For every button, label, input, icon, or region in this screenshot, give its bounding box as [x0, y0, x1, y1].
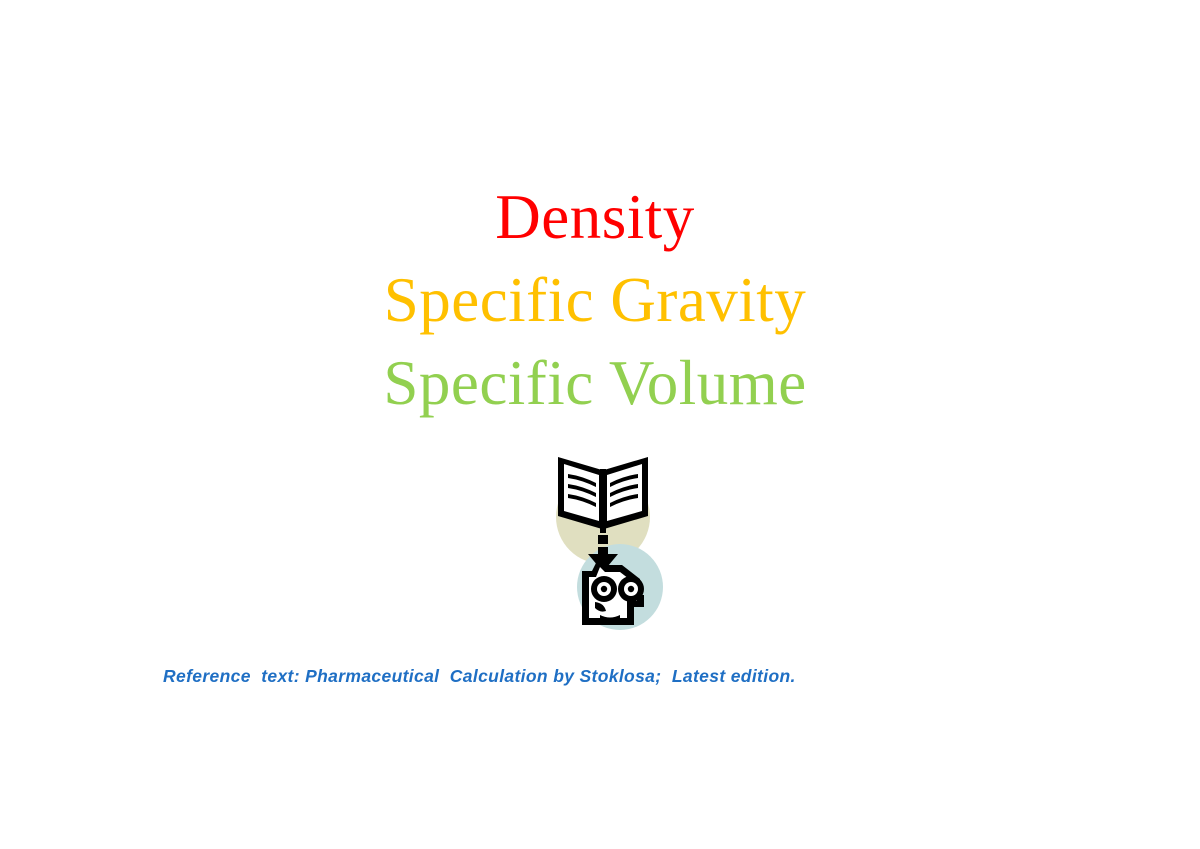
learning-clipart — [548, 443, 673, 633]
title-line-density: Density — [0, 186, 1190, 249]
title-line-specific-volume: Specific Volume — [0, 352, 1190, 415]
title-block: Density Specific Gravity Specific Volume — [0, 186, 1190, 415]
slide-canvas: Density Specific Gravity Specific Volume — [0, 0, 1200, 849]
title-line-specific-gravity: Specific Gravity — [0, 269, 1190, 332]
reference-text: Reference text: Pharmaceutical Calculati… — [163, 666, 796, 687]
clipart-svg — [548, 443, 673, 633]
